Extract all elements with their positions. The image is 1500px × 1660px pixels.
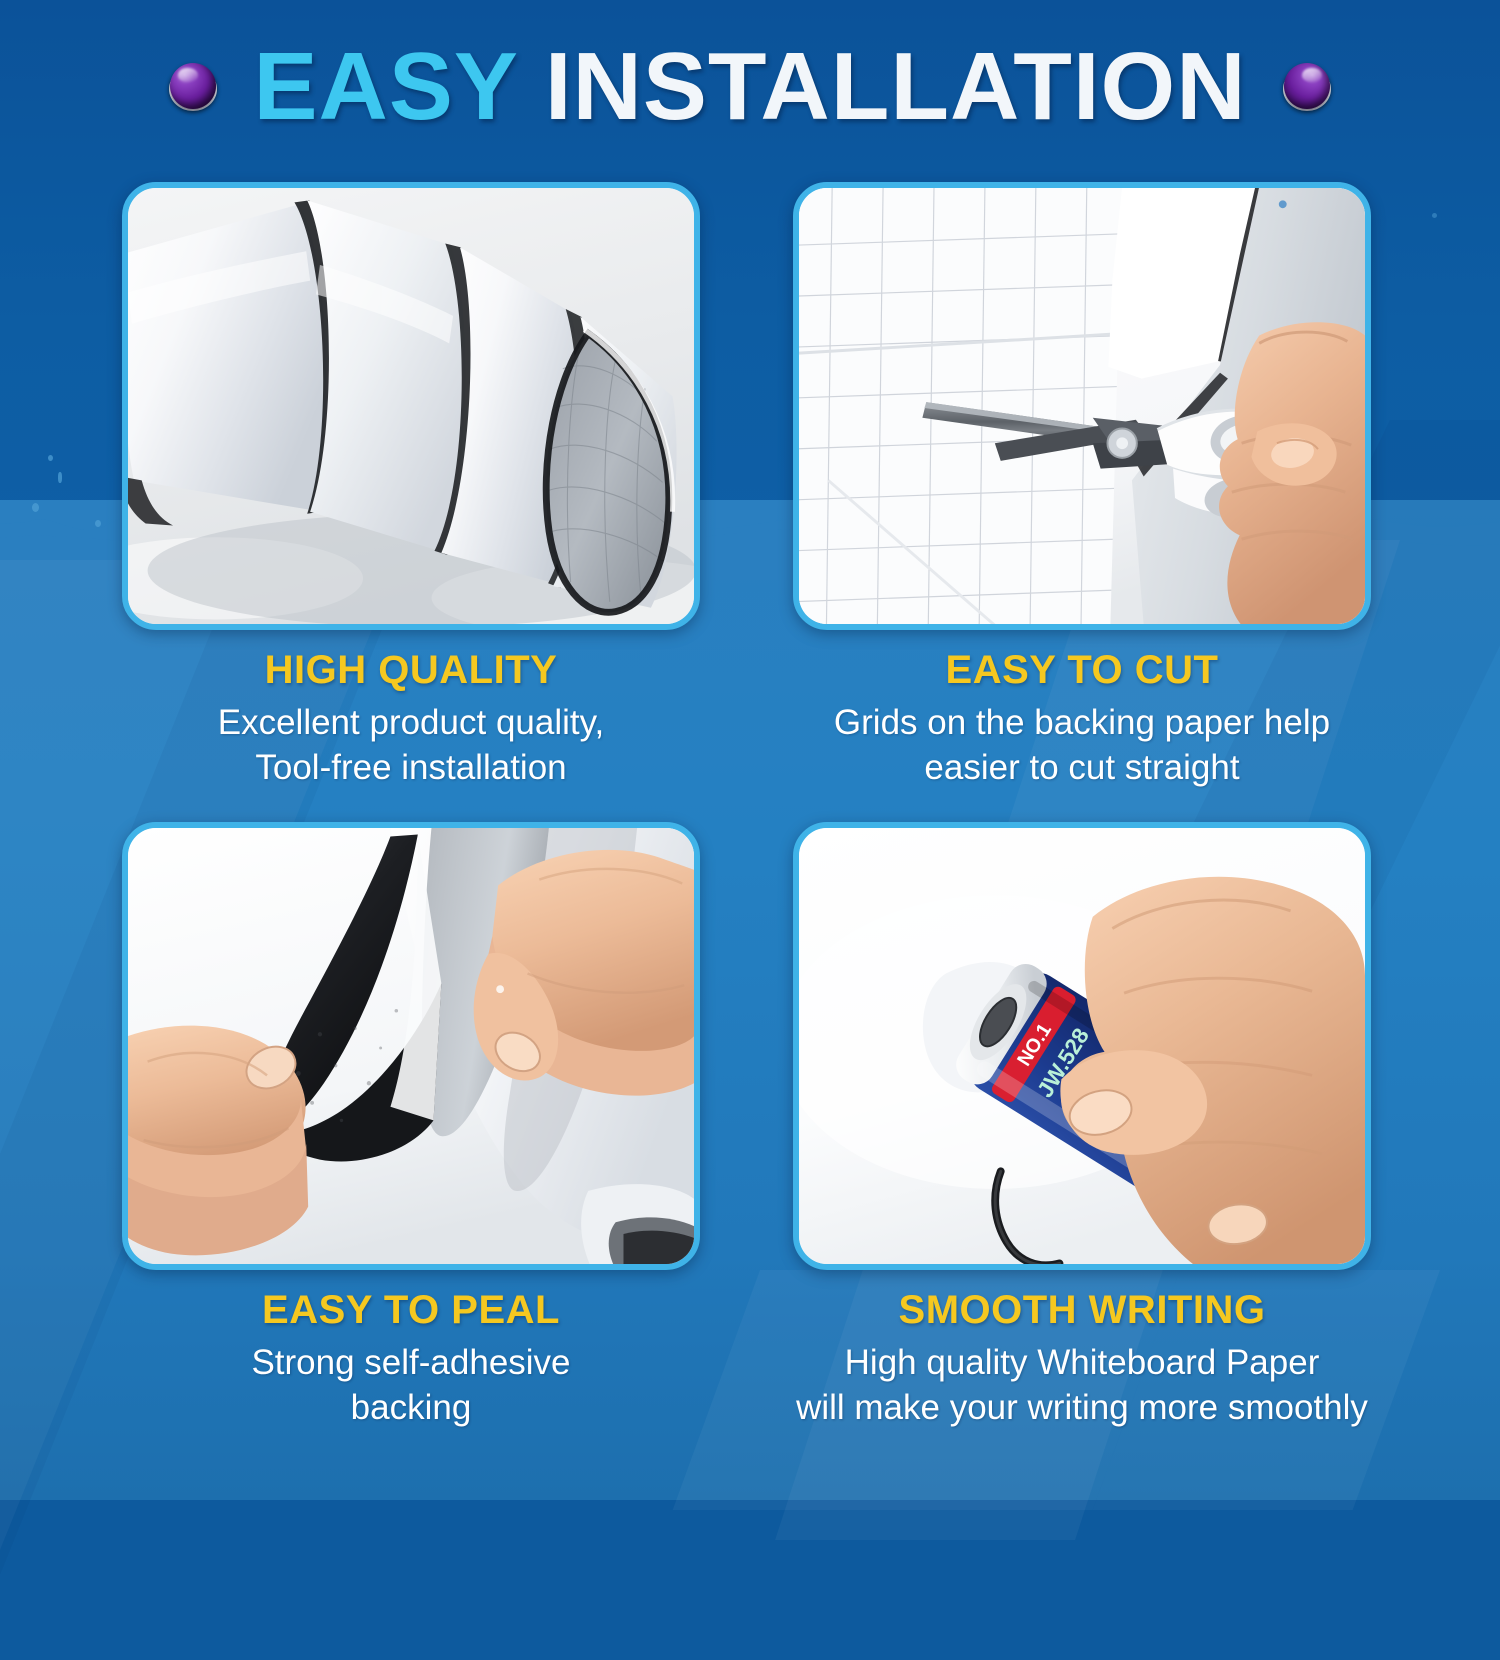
pushpin-icon [167, 61, 219, 113]
easy-to-cut-photo [793, 182, 1371, 630]
feature-card-high-quality[interactable]: HIGH QUALITY Excellent product quality, … [122, 182, 700, 630]
smooth-writing-photo: NO.1 JW.528 ○○ JIAWEI [793, 822, 1371, 1270]
caption-title: SMOOTH WRITING [793, 1288, 1371, 1333]
caption-body-line2: will make your writing more smoothly [793, 1386, 1371, 1431]
caption-high-quality: HIGH QUALITY Excellent product quality, … [122, 648, 700, 790]
feature-grid: HIGH QUALITY Excellent product quality, … [0, 0, 1500, 1500]
title-installation: INSTALLATION [545, 33, 1247, 140]
caption-body-line2: backing [122, 1386, 700, 1431]
easy-to-peal-photo [122, 822, 700, 1270]
pushpin-icon [1281, 61, 1333, 113]
caption-body-line1: Excellent product quality, [122, 701, 700, 746]
caption-title: HIGH QUALITY [122, 648, 700, 693]
caption-smooth-writing: SMOOTH WRITING High quality Whiteboard P… [793, 1288, 1371, 1430]
caption-title: EASY TO CUT [793, 648, 1371, 693]
high-quality-photo [122, 182, 700, 630]
feature-card-easy-to-cut[interactable]: EASY TO CUT Grids on the backing paper h… [793, 182, 1371, 630]
caption-title: EASY TO PEAL [122, 1288, 700, 1333]
caption-body-line2: Tool-free installation [122, 746, 700, 791]
caption-body-line2: easier to cut straight [793, 746, 1371, 791]
caption-easy-to-cut: EASY TO CUT Grids on the backing paper h… [793, 648, 1371, 790]
page-title: EASY INSTALLATION [253, 39, 1246, 135]
caption-body-line1: Grids on the backing paper help [793, 701, 1371, 746]
feature-card-smooth-writing[interactable]: NO.1 JW.528 ○○ JIAWEI [793, 822, 1371, 1270]
feature-card-easy-to-peal[interactable]: EASY TO PEAL Strong self-adhesive backin… [122, 822, 700, 1270]
title-easy: EASY [253, 33, 517, 140]
caption-body-line1: Strong self-adhesive [122, 1341, 700, 1386]
caption-body-line1: High quality Whiteboard Paper [793, 1341, 1371, 1386]
page-header: EASY INSTALLATION [0, 22, 1500, 152]
caption-easy-to-peal: EASY TO PEAL Strong self-adhesive backin… [122, 1288, 700, 1430]
